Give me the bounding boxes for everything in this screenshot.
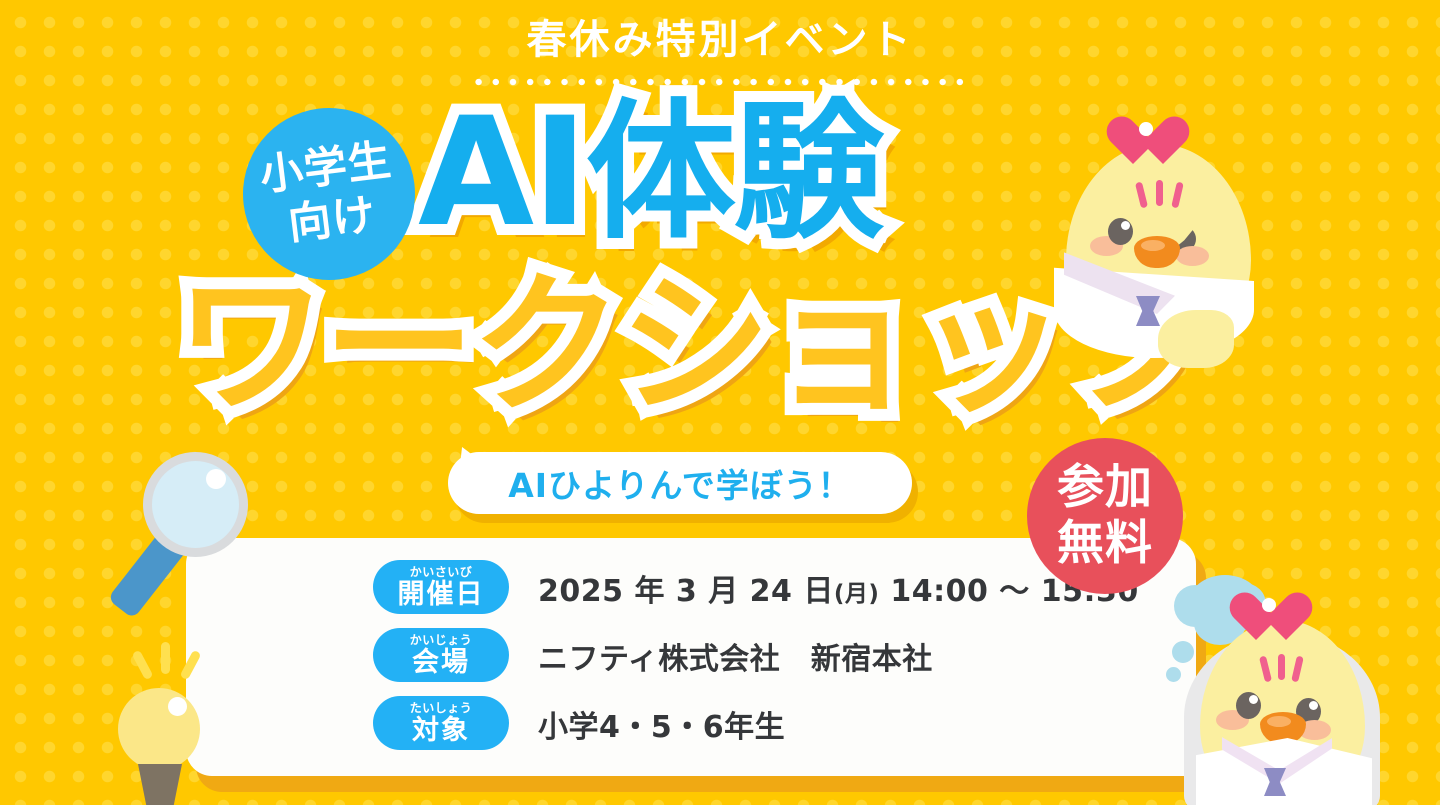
value-venue: ニフティ株式会社 新宿本社 (538, 634, 933, 678)
chick-eye (1108, 218, 1133, 245)
kicker-text: 春休み特別イベント (0, 12, 1440, 68)
magnifier-lens (152, 461, 239, 548)
subtitle-bubble: AIひよりんで学ぼう！ (448, 452, 912, 514)
chick-wing (1158, 310, 1234, 368)
value-target: 小学4・5・6年生 (538, 702, 785, 746)
free-badge: 参加 無料 (1027, 438, 1183, 594)
value-date: 2025 年 3 月 24 日(月) 14:00 ～ 15:30 (538, 566, 1139, 610)
furigana-date: かいさいび (410, 566, 473, 579)
info-row-venue: かいじょう 会場 ニフティ株式会社 新宿本社 (186, 622, 1196, 690)
heart-glint (1262, 598, 1276, 612)
chick-mascot-winking (1048, 118, 1298, 388)
lightbulb-ray (131, 650, 153, 681)
chick-mascot-thinking (1178, 592, 1393, 805)
lightbulb-glint (168, 697, 187, 716)
label-target: 対象 (412, 715, 470, 746)
info-label-pill-date: かいさいび 開催日 (373, 560, 509, 614)
furigana-target: たいしょう (410, 702, 473, 715)
magnifier-ring (143, 452, 248, 557)
heart-glint (1139, 122, 1153, 136)
heart-icon (1133, 118, 1191, 170)
grade-badge-line1: 小学生 (257, 134, 394, 202)
furigana-venue: かいじょう (410, 634, 473, 647)
free-badge-line2: 無料 (1057, 516, 1153, 572)
value-date-main: 2025 年 3 月 24 日 (538, 574, 834, 609)
lightbulb-ray (161, 642, 170, 674)
info-card: かいさいび 開催日 2025 年 3 月 24 日(月) 14:00 ～ 15:… (186, 538, 1196, 776)
event-poster: 春休み特別イベント 小学生 向け AI体験 AI体験 AI体験 ワークショップ … (0, 0, 1440, 805)
subtitle-text: AIひよりんで学ぼう！ (508, 459, 852, 507)
heart-icon (1256, 594, 1314, 646)
grade-badge-line2: 向け (285, 189, 379, 251)
info-label-pill-target: たいしょう 対象 (373, 696, 509, 750)
dotted-divider (470, 78, 970, 86)
free-badge-line1: 参加 (1057, 460, 1153, 516)
chick-eye (1236, 692, 1261, 719)
label-date: 開催日 (398, 579, 485, 610)
label-venue: 会場 (412, 647, 470, 678)
magnifier-glint (206, 469, 226, 489)
chick-cheek (1176, 246, 1209, 266)
value-date-weekday: (月) (834, 581, 880, 607)
title-line-1-fill: AI体験 (418, 86, 882, 261)
info-label-pill-venue: かいじょう 会場 (373, 628, 509, 682)
info-row-target: たいしょう 対象 小学4・5・6年生 (186, 690, 1196, 758)
lightbulb-base (138, 764, 182, 805)
